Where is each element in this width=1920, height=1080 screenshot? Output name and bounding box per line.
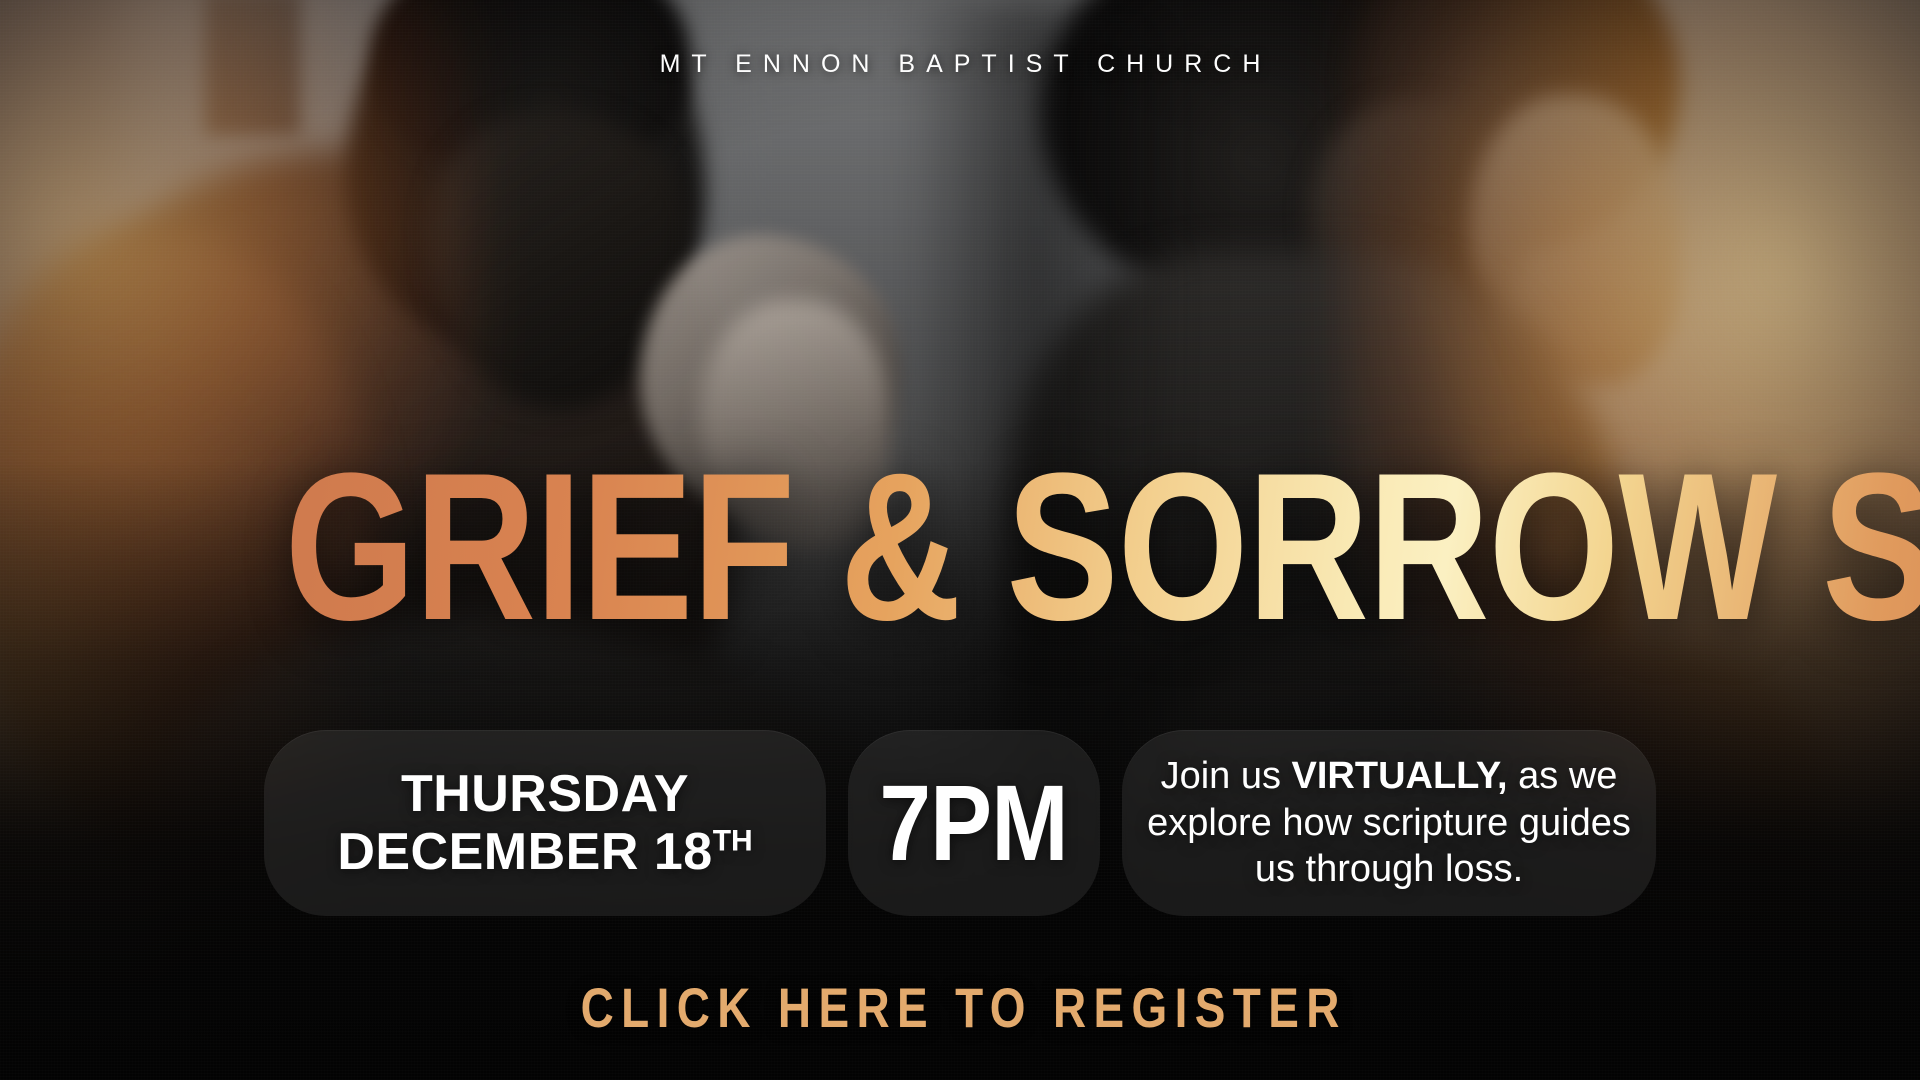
detail-text-part1: Join us	[1161, 755, 1292, 797]
page-title: GRIEF & SORROW SESSION	[285, 455, 1920, 640]
info-pill-row: THURSDAY DECEMBER 18TH 7PM Join us VIRTU…	[0, 730, 1920, 916]
church-name: MT ENNON BAPTIST CHURCH	[0, 50, 1920, 79]
date-ordinal-suffix: TH	[713, 825, 753, 858]
date-pill: THURSDAY DECEMBER 18TH	[264, 730, 826, 916]
register-link[interactable]: CLICK HERE TO REGISTER	[173, 975, 1747, 1040]
event-flyer: MT ENNON BAPTIST CHURCH GRIEF & SORROW S…	[0, 0, 1920, 1080]
date-day: DECEMBER 18	[337, 823, 712, 881]
date-weekday: THURSDAY	[401, 765, 689, 823]
time-text: 7PM	[880, 769, 1068, 877]
time-pill: 7PM	[848, 730, 1100, 916]
headline-container: GRIEF & SORROW SESSION	[0, 455, 1920, 640]
detail-pill: Join us VIRTUALLY, as we explore how scr…	[1122, 730, 1656, 916]
date-text: THURSDAY DECEMBER 18TH	[337, 765, 752, 881]
detail-text-emphasis: VIRTUALLY,	[1292, 755, 1508, 797]
detail-text: Join us VIRTUALLY, as we explore how scr…	[1122, 753, 1656, 892]
flyer-content: MT ENNON BAPTIST CHURCH GRIEF & SORROW S…	[0, 0, 1920, 1080]
